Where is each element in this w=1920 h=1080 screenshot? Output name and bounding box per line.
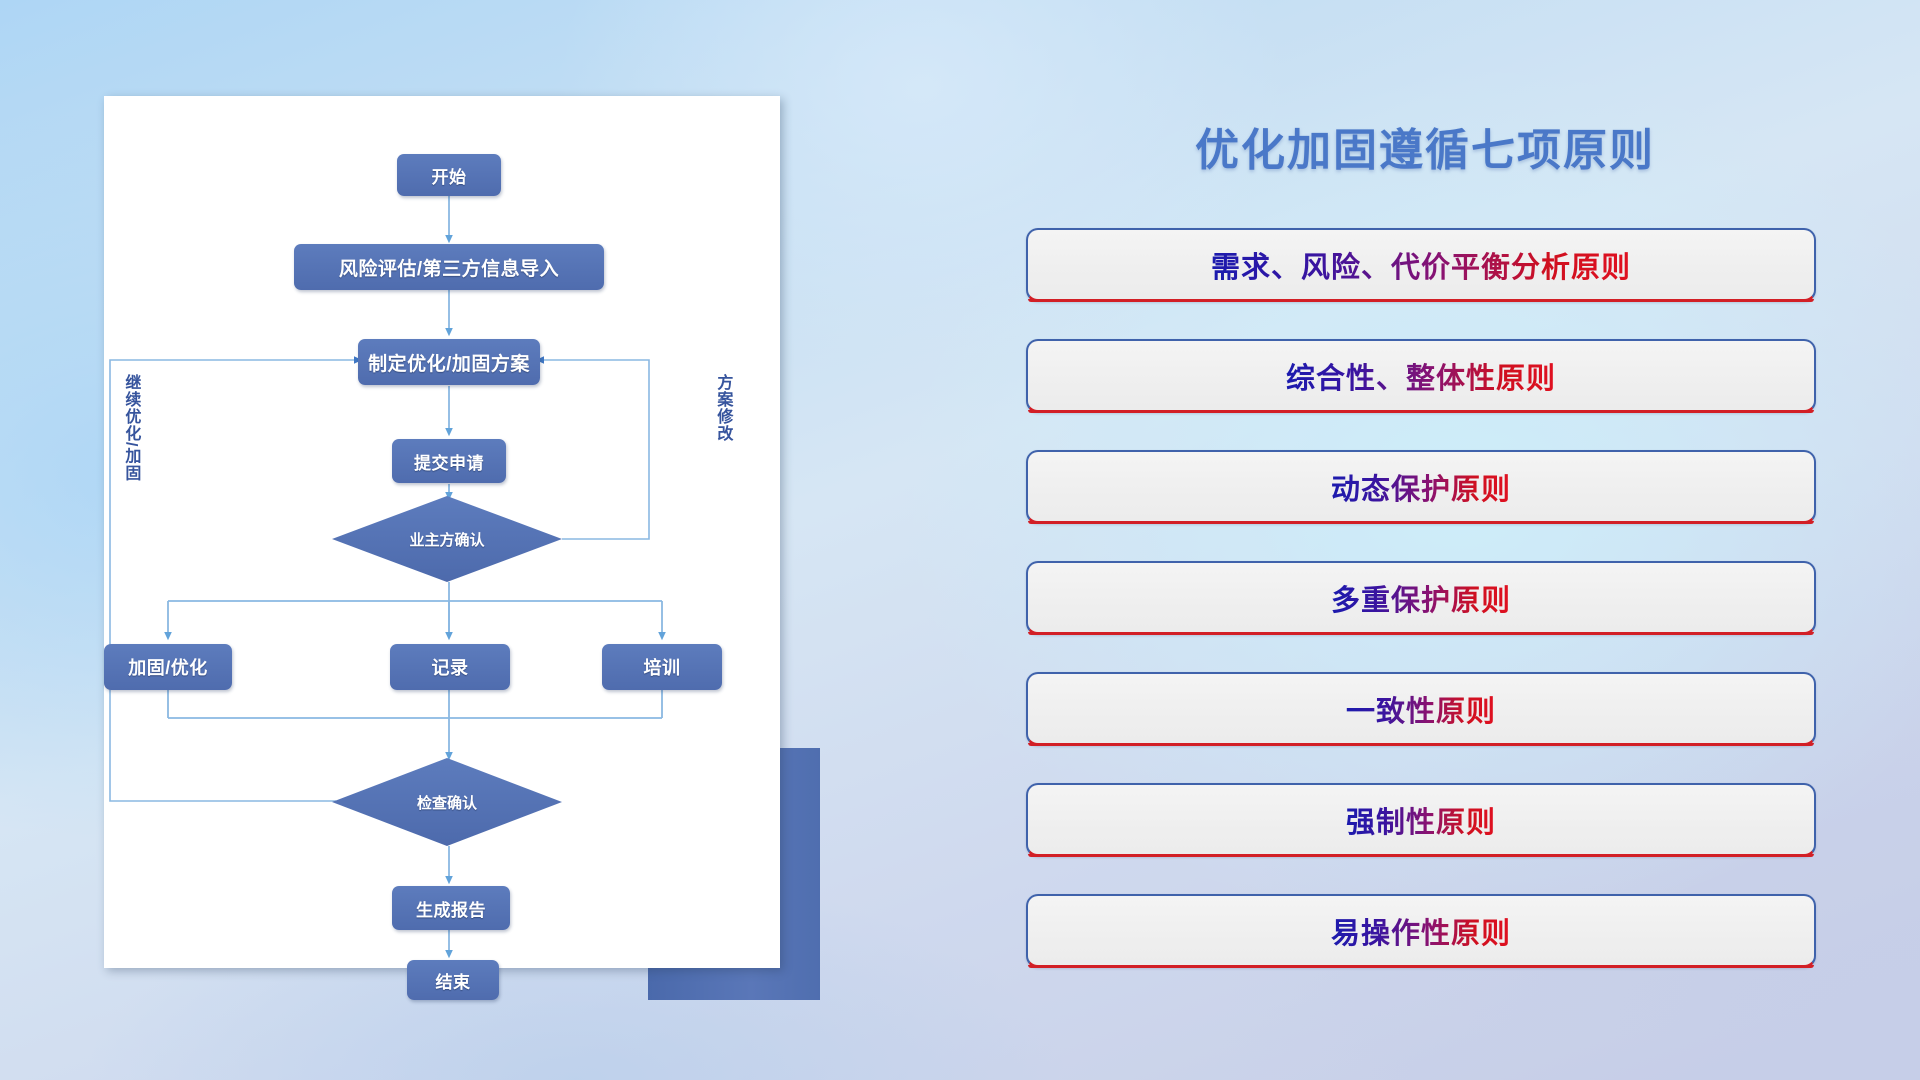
principle-item[interactable]: 一致性原则	[1026, 672, 1816, 746]
flow-node-submit-application[interactable]: 提交申请	[392, 439, 506, 483]
principle-item[interactable]: 易操作性原则	[1026, 894, 1816, 968]
flow-node-plan[interactable]: 制定优化/加固方案	[358, 339, 540, 385]
flow-node-label: 加固/优化	[128, 654, 208, 680]
flow-node-label: 风险评估/第三方信息导入	[339, 254, 559, 281]
flow-node-end[interactable]: 结束	[407, 960, 499, 1000]
principle-item[interactable]: 强制性原则	[1026, 783, 1816, 857]
flowchart-card: 开始 风险评估/第三方信息导入 制定优化/加固方案 提交申请 业主方确认 加固/…	[104, 96, 780, 968]
principle-item[interactable]: 需求、风险、代价平衡分析原则	[1026, 228, 1816, 302]
flow-node-start[interactable]: 开始	[397, 154, 501, 196]
principle-label: 多重保护原则	[1331, 577, 1511, 619]
principle-label: 动态保护原则	[1331, 466, 1511, 508]
flow-node-label: 开始	[432, 163, 467, 188]
flow-node-label: 培训	[644, 654, 681, 680]
edge-label-plan-revision: 方案修改	[714, 374, 730, 442]
flow-node-label: 检查确认	[417, 792, 477, 813]
flow-node-label: 提交申请	[414, 449, 484, 474]
principle-item[interactable]: 综合性、整体性原则	[1026, 339, 1816, 413]
panel-title: 优化加固遵循七项原则	[1020, 114, 1830, 178]
flow-node-reinforce-optimize[interactable]: 加固/优化	[104, 644, 232, 690]
principles-panel: 优化加固遵循七项原则 需求、风险、代价平衡分析原则 综合性、整体性原则 动态保护…	[1020, 96, 1830, 996]
flow-node-label: 记录	[432, 654, 469, 680]
principles-list: 需求、风险、代价平衡分析原则 综合性、整体性原则 动态保护原则 多重保护原则 一…	[1026, 228, 1816, 1005]
flow-node-training[interactable]: 培训	[602, 644, 722, 690]
flow-node-risk-assessment[interactable]: 风险评估/第三方信息导入	[294, 244, 604, 290]
principle-label: 综合性、整体性原则	[1286, 355, 1556, 397]
edge-label-continue-optimize: 继续优化/加固	[122, 374, 138, 481]
principle-label: 强制性原则	[1346, 799, 1496, 841]
flow-node-label: 生成报告	[416, 896, 486, 921]
flow-node-generate-report[interactable]: 生成报告	[392, 886, 510, 930]
principle-item[interactable]: 动态保护原则	[1026, 450, 1816, 524]
flow-node-label: 业主方确认	[409, 529, 484, 550]
principle-item[interactable]: 多重保护原则	[1026, 561, 1816, 635]
flow-node-label: 结束	[436, 968, 471, 993]
principle-label: 一致性原则	[1346, 688, 1496, 730]
principle-label: 需求、风险、代价平衡分析原则	[1211, 244, 1631, 286]
flow-node-record[interactable]: 记录	[390, 644, 510, 690]
flow-node-label: 制定优化/加固方案	[368, 349, 530, 376]
principle-label: 易操作性原则	[1331, 910, 1511, 952]
